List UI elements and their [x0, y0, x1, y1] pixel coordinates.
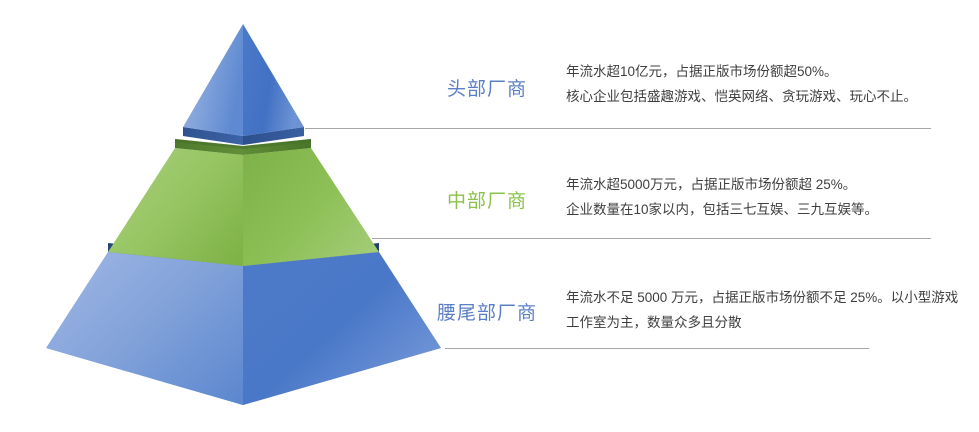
tier-top-face-left [183, 24, 243, 136]
tier-description-top: 年流水超10亿元，占据正版市场份额超50%。 核心企业包括盛趣游戏、恺英网络、贪… [566, 59, 917, 109]
tier-top-face-right [243, 24, 304, 136]
tier-description-middle: 年流水超5000万元，占据正版市场份额超 25%。 企业数量在10家以内，包括三… [566, 172, 878, 222]
tier-middle-face-left [108, 148, 243, 266]
pyramid-tier-bottom[interactable] [46, 243, 441, 405]
tier-bottom-face-right [243, 252, 441, 405]
tier-description-bottom: 年流水不足 5000 万元，占据正版市场份额不足 25%。以小型游戏 工作室为主… [566, 285, 958, 335]
tier-bottom-face-left [46, 252, 243, 405]
tier-middle-face-right [243, 148, 379, 266]
tier-label-middle: 中部厂商 [447, 186, 527, 213]
tier-description-bottom-line-2: 工作室为主，数量众多且分散 [566, 310, 958, 335]
tier-description-middle-line-2: 企业数量在10家以内，包括三七互娱、三九互娱等。 [566, 197, 878, 222]
diagram-canvas: 头部厂商 年流水超10亿元，占据正版市场份额超50%。 核心企业包括盛趣游戏、恺… [0, 0, 979, 432]
tier-label-bottom: 腰尾部厂商 [437, 298, 537, 325]
tier-description-bottom-line-1: 年流水不足 5000 万元，占据正版市场份额不足 25%。以小型游戏 [566, 285, 958, 310]
tier-label-top: 头部厂商 [447, 74, 527, 101]
pyramid-tier-top[interactable] [183, 24, 304, 145]
tier-description-middle-line-1: 年流水超5000万元，占据正版市场份额超 25%。 [566, 172, 878, 197]
pyramid-tier-middle[interactable] [108, 139, 379, 266]
tier-description-top-line-1: 年流水超10亿元，占据正版市场份额超50%。 [566, 59, 917, 84]
tier-description-top-line-2: 核心企业包括盛趣游戏、恺英网络、贪玩游戏、玩心不止。 [566, 84, 917, 109]
